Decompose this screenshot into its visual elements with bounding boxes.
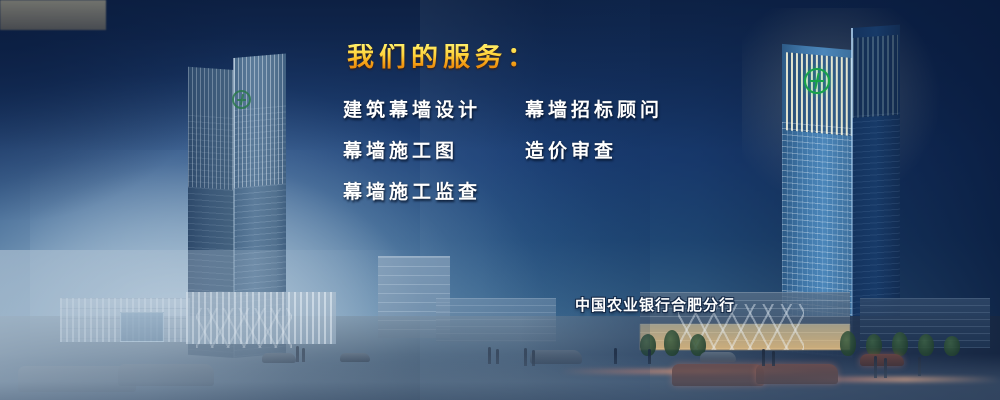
project-caption: 中国农业银行合肥分行 [575, 294, 735, 315]
tree [840, 331, 856, 356]
pedestrian [874, 356, 877, 378]
car [860, 354, 904, 366]
service-item-tender-consulting: 幕墙招标顾问 [525, 101, 663, 120]
service-row: 幕墙施工监查 [343, 183, 763, 202]
pedestrian [884, 358, 887, 378]
tree [944, 336, 960, 356]
car [262, 353, 296, 363]
pedestrian [614, 348, 617, 364]
pedestrian [532, 350, 535, 366]
right-podium-canopy [0, 0, 106, 30]
pedestrian [648, 349, 651, 364]
car [756, 364, 838, 384]
abc-bank-logo-icon-lit [804, 68, 830, 94]
service-row: 建筑幕墙设计 幕墙招标顾问 [343, 101, 763, 120]
tower-corner-edge [851, 28, 853, 358]
tower-crown-lit-right [852, 35, 898, 118]
pedestrian [296, 346, 299, 362]
car [340, 353, 370, 362]
service-item-construction-drawing: 幕墙施工图 [343, 142, 525, 161]
logo-ring [232, 90, 251, 109]
pedestrian [762, 349, 765, 366]
pedestrian [918, 357, 921, 376]
tree [892, 332, 908, 356]
service-item-cost-review: 造价审查 [525, 142, 617, 161]
car [700, 352, 736, 362]
services-text-block: 我们的服务： 建筑幕墙设计 幕墙招标顾问 幕墙施工图 造价审查 幕墙施工监查 [343, 44, 763, 224]
pedestrian [496, 349, 499, 364]
service-item-curtain-wall-design: 建筑幕墙设计 [343, 101, 525, 120]
service-banner: 我们的服务： 建筑幕墙设计 幕墙招标顾问 幕墙施工图 造价审查 幕墙施工监查 中… [0, 0, 1000, 400]
car [672, 364, 764, 386]
tree [866, 334, 882, 356]
service-item-construction-supervision: 幕墙施工监查 [343, 183, 525, 202]
car [530, 350, 582, 364]
tree [664, 330, 680, 356]
left-building-entrance [120, 312, 164, 342]
car [118, 364, 214, 386]
pedestrian [524, 348, 527, 366]
pedestrian [772, 351, 775, 366]
abc-bank-logo-icon [232, 90, 251, 109]
service-row: 幕墙施工图 造价审查 [343, 142, 763, 161]
pedestrian [302, 348, 305, 362]
services-title: 我们的服务： [347, 44, 539, 71]
logo-ring [804, 68, 830, 94]
pedestrian [488, 347, 491, 364]
left-base-lattice [196, 308, 292, 348]
tree [918, 334, 934, 356]
